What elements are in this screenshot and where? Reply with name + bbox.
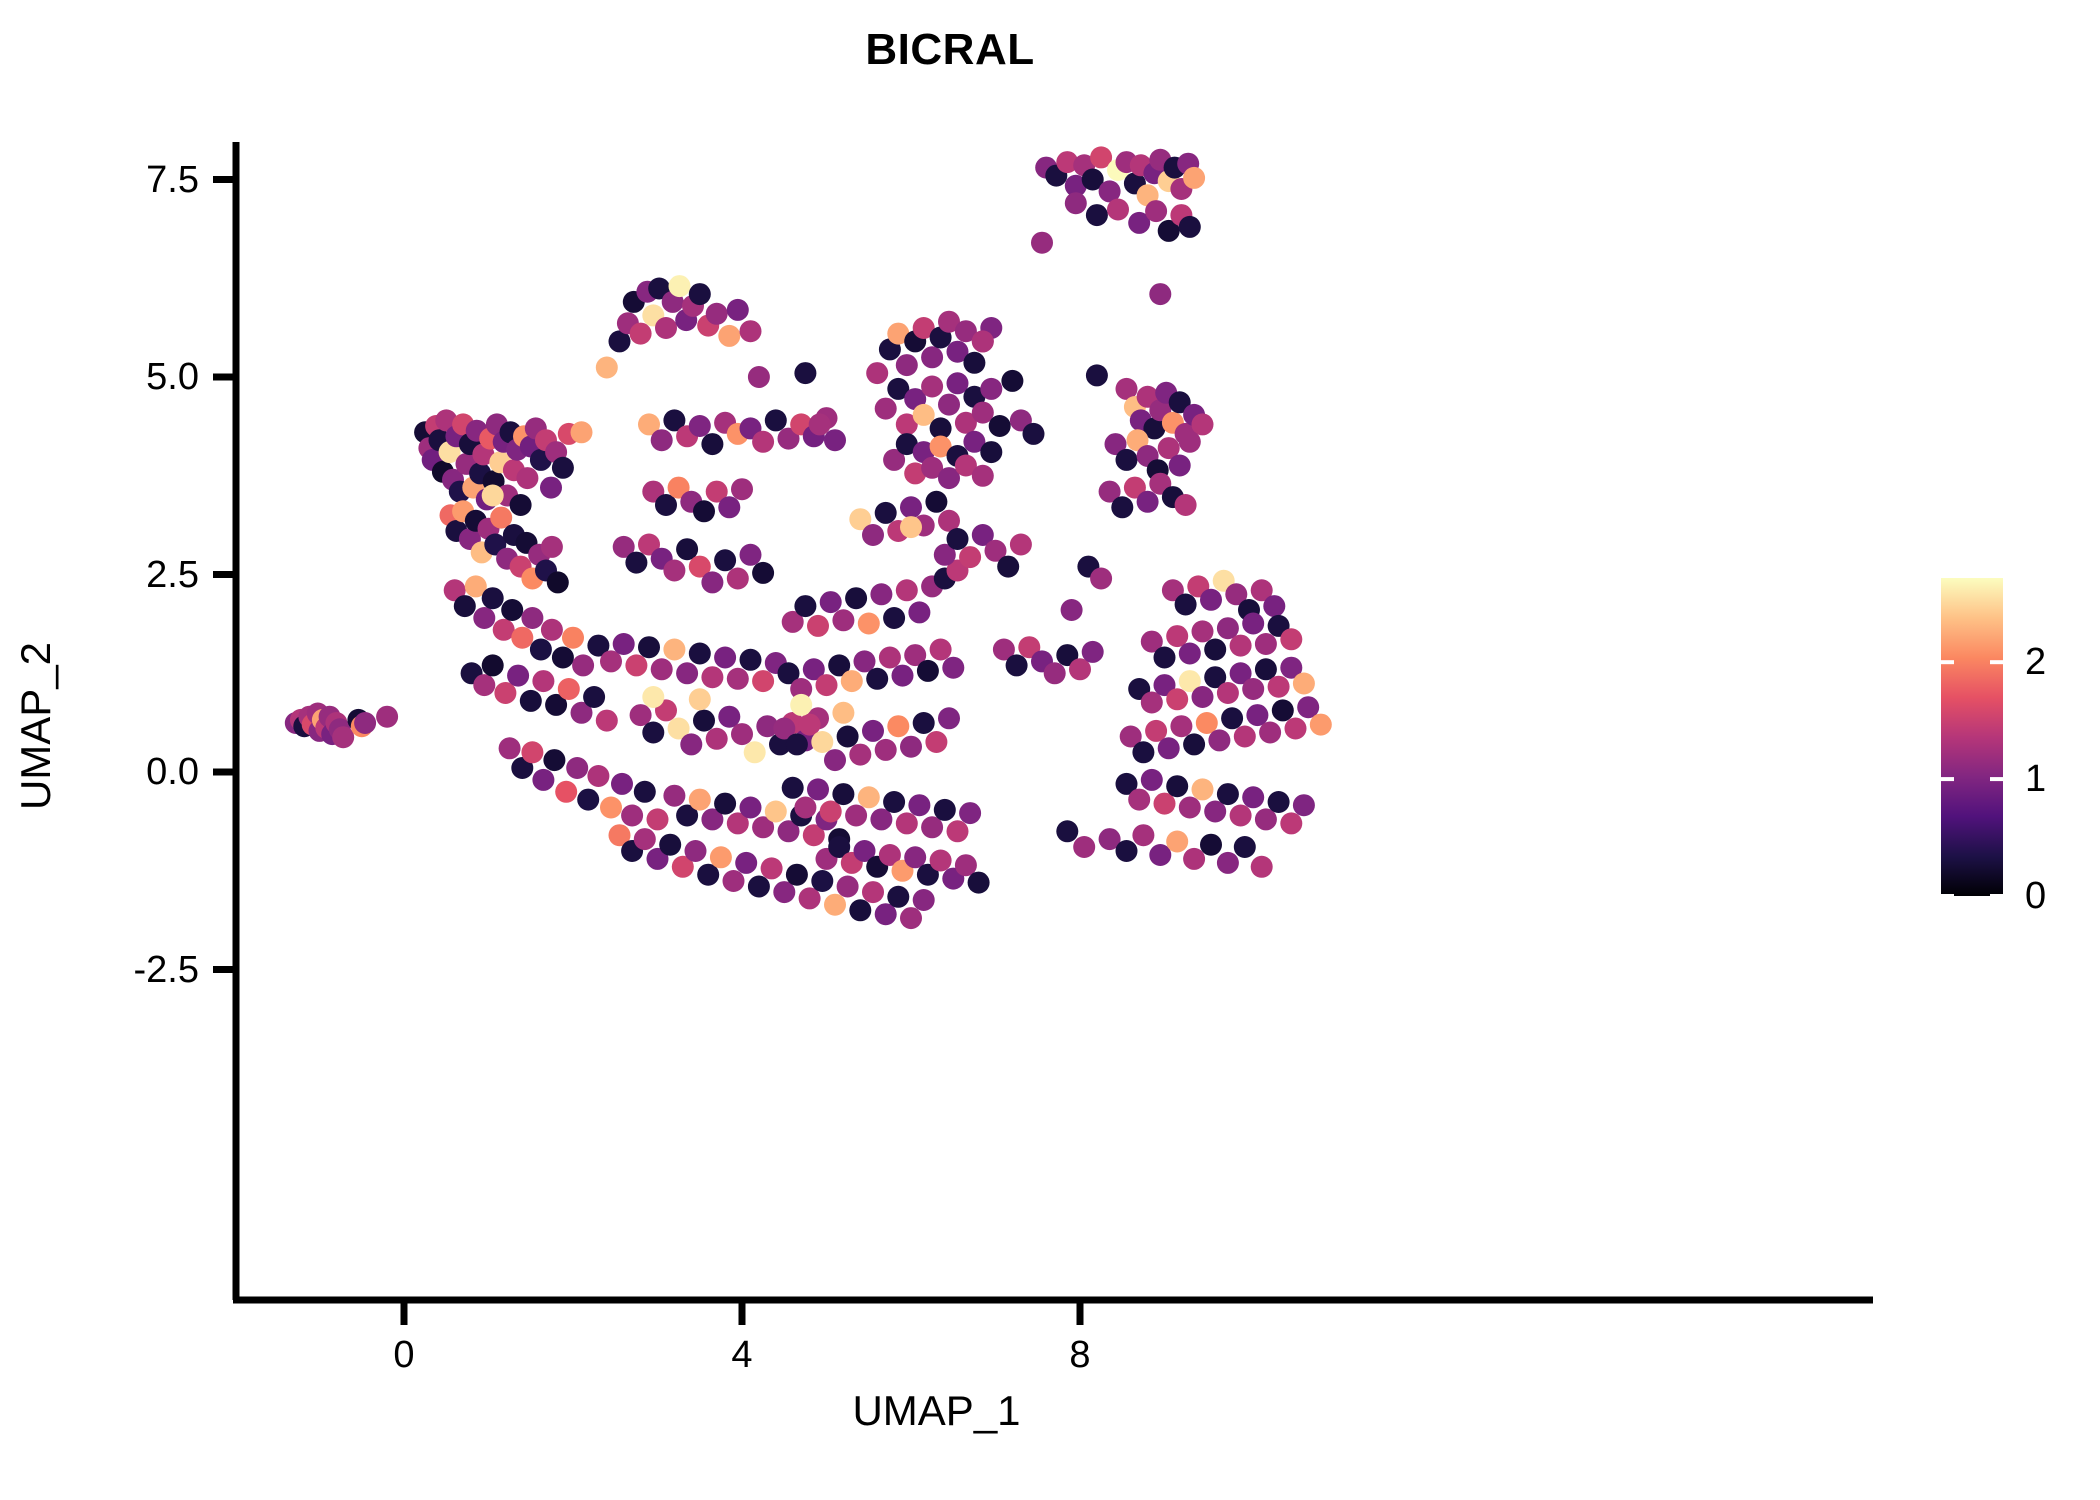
data-point bbox=[997, 556, 1019, 578]
data-point bbox=[824, 894, 846, 916]
data-point bbox=[562, 627, 584, 649]
data-point bbox=[611, 773, 633, 795]
data-point bbox=[811, 731, 833, 753]
data-point bbox=[765, 801, 787, 823]
data-point bbox=[532, 670, 554, 692]
data-point bbox=[516, 467, 538, 489]
data-point bbox=[896, 579, 918, 601]
data-point bbox=[714, 647, 736, 669]
data-point bbox=[718, 325, 740, 347]
data-point bbox=[845, 805, 867, 827]
data-point bbox=[900, 907, 922, 929]
data-point bbox=[824, 749, 846, 771]
data-point bbox=[521, 607, 543, 629]
data-point bbox=[501, 599, 523, 621]
data-point bbox=[921, 346, 943, 368]
data-point bbox=[723, 870, 745, 892]
data-point bbox=[621, 805, 643, 827]
data-point bbox=[647, 808, 669, 830]
data-point bbox=[858, 786, 880, 808]
data-point bbox=[740, 320, 762, 342]
data-point bbox=[663, 785, 685, 807]
data-point bbox=[566, 757, 588, 779]
data-point bbox=[989, 415, 1011, 437]
data-point bbox=[1166, 831, 1188, 853]
data-point bbox=[794, 797, 816, 819]
data-point bbox=[968, 872, 990, 894]
data-point bbox=[482, 587, 504, 609]
data-point bbox=[1310, 714, 1332, 736]
data-point bbox=[1251, 856, 1273, 878]
data-point bbox=[887, 715, 909, 737]
data-point bbox=[1280, 628, 1302, 650]
data-point bbox=[663, 639, 685, 661]
data-point bbox=[714, 549, 736, 571]
data-point bbox=[1145, 200, 1167, 222]
data-point bbox=[1263, 595, 1285, 617]
data-point bbox=[1221, 707, 1243, 729]
data-point bbox=[541, 619, 563, 641]
data-point bbox=[1217, 852, 1239, 874]
data-point bbox=[1056, 820, 1078, 842]
data-point bbox=[1230, 805, 1252, 827]
data-point bbox=[1272, 699, 1294, 721]
data-point bbox=[934, 799, 956, 821]
data-point bbox=[845, 587, 867, 609]
data-point bbox=[809, 413, 831, 435]
data-point bbox=[510, 494, 532, 516]
data-point bbox=[727, 299, 749, 321]
data-point bbox=[1179, 643, 1201, 665]
data-point bbox=[1158, 737, 1180, 759]
data-point bbox=[587, 765, 609, 787]
data-point bbox=[980, 378, 1002, 400]
data-point bbox=[1268, 791, 1290, 813]
data-point bbox=[1137, 491, 1159, 513]
data-point bbox=[908, 794, 930, 816]
data-point bbox=[761, 857, 783, 879]
data-point bbox=[1259, 722, 1281, 744]
data-point bbox=[883, 791, 905, 813]
data-point bbox=[752, 431, 774, 453]
data-point bbox=[913, 889, 935, 911]
data-point bbox=[748, 366, 770, 388]
data-point bbox=[786, 733, 808, 755]
data-point bbox=[1179, 431, 1201, 453]
data-point bbox=[577, 789, 599, 811]
data-point bbox=[731, 723, 753, 745]
data-point bbox=[980, 441, 1002, 463]
data-point bbox=[807, 615, 829, 637]
data-point bbox=[841, 670, 863, 692]
data-point bbox=[866, 668, 888, 690]
data-point bbox=[473, 674, 495, 696]
data-point bbox=[837, 726, 859, 748]
data-point bbox=[921, 376, 943, 398]
data-point bbox=[642, 722, 664, 744]
data-points-layer bbox=[285, 146, 1332, 929]
data-point bbox=[689, 789, 711, 811]
data-point bbox=[669, 275, 691, 297]
data-point bbox=[959, 802, 981, 824]
data-point bbox=[1192, 686, 1214, 708]
data-point bbox=[583, 686, 605, 708]
data-point bbox=[701, 666, 723, 688]
data-point bbox=[849, 899, 871, 921]
data-point bbox=[689, 283, 711, 305]
data-point bbox=[1230, 635, 1252, 657]
data-point bbox=[832, 783, 854, 805]
data-point bbox=[376, 706, 398, 728]
data-point bbox=[642, 686, 664, 708]
data-point bbox=[1200, 834, 1222, 856]
data-point bbox=[938, 394, 960, 416]
colorbar-tick-label: 1 bbox=[2025, 760, 2046, 798]
data-point bbox=[765, 409, 787, 431]
data-point bbox=[963, 352, 985, 374]
data-point bbox=[596, 710, 618, 732]
data-point bbox=[541, 536, 563, 558]
data-point bbox=[540, 477, 562, 499]
data-point bbox=[1082, 641, 1104, 663]
data-point bbox=[521, 741, 543, 763]
data-point bbox=[925, 731, 947, 753]
data-point bbox=[862, 524, 884, 546]
data-point bbox=[482, 485, 504, 507]
data-point bbox=[718, 496, 740, 518]
data-point bbox=[354, 712, 376, 734]
axis-lines bbox=[213, 142, 1873, 1325]
data-point bbox=[1170, 715, 1192, 737]
data-point bbox=[849, 744, 871, 766]
data-point bbox=[752, 670, 774, 692]
data-point bbox=[1086, 204, 1108, 226]
data-point bbox=[1179, 216, 1201, 238]
data-point bbox=[816, 674, 838, 696]
data-point bbox=[1169, 455, 1191, 477]
data-point bbox=[1010, 534, 1032, 556]
data-point bbox=[714, 793, 736, 815]
data-point bbox=[1111, 496, 1133, 518]
data-point bbox=[727, 668, 749, 690]
colorbar-tick-label: 2 bbox=[2025, 643, 2046, 681]
data-point bbox=[947, 820, 969, 842]
data-point bbox=[794, 595, 816, 617]
data-point bbox=[875, 398, 897, 420]
data-point bbox=[1293, 673, 1315, 695]
data-point bbox=[693, 500, 715, 522]
data-point bbox=[552, 457, 574, 479]
data-point bbox=[1208, 729, 1230, 751]
data-point bbox=[862, 881, 884, 903]
data-point bbox=[1234, 726, 1256, 748]
data-point bbox=[571, 421, 593, 443]
data-point bbox=[634, 828, 656, 850]
data-point bbox=[547, 571, 569, 593]
data-point bbox=[752, 562, 774, 584]
data-point bbox=[706, 303, 728, 325]
data-point bbox=[659, 834, 681, 856]
data-point bbox=[1293, 794, 1315, 816]
data-point bbox=[685, 840, 707, 862]
data-point bbox=[735, 852, 757, 874]
colorbar-gradient bbox=[1941, 578, 2003, 896]
data-point bbox=[1280, 812, 1302, 834]
data-point bbox=[543, 749, 565, 771]
data-point bbox=[552, 647, 574, 669]
data-point bbox=[1242, 786, 1264, 808]
data-point bbox=[1065, 192, 1087, 214]
data-point bbox=[782, 777, 804, 799]
data-point bbox=[710, 846, 732, 868]
data-point bbox=[938, 707, 960, 729]
data-point bbox=[689, 688, 711, 710]
data-point bbox=[638, 636, 660, 658]
data-point bbox=[701, 571, 723, 593]
data-point bbox=[930, 850, 952, 872]
data-point bbox=[790, 694, 812, 716]
data-point bbox=[837, 876, 859, 898]
data-point bbox=[740, 544, 762, 566]
data-point bbox=[596, 357, 618, 379]
data-point bbox=[689, 643, 711, 665]
data-point bbox=[1044, 662, 1066, 684]
data-point bbox=[1175, 494, 1197, 516]
data-point bbox=[740, 649, 762, 671]
data-point bbox=[1234, 836, 1256, 858]
data-point bbox=[883, 607, 905, 629]
data-point bbox=[1023, 423, 1045, 445]
data-point bbox=[680, 733, 702, 755]
data-point bbox=[947, 528, 969, 550]
data-point bbox=[896, 812, 918, 834]
data-point bbox=[1183, 167, 1205, 189]
data-point bbox=[972, 465, 994, 487]
data-point bbox=[1183, 733, 1205, 755]
data-point bbox=[807, 778, 829, 800]
data-point bbox=[875, 502, 897, 524]
data-point bbox=[959, 546, 981, 568]
data-point bbox=[482, 654, 504, 676]
data-point bbox=[1086, 364, 1108, 386]
data-point bbox=[1107, 199, 1129, 221]
data-point bbox=[917, 660, 939, 682]
data-point bbox=[1031, 232, 1053, 254]
data-point bbox=[530, 639, 552, 661]
data-point bbox=[634, 781, 656, 803]
data-point bbox=[625, 552, 647, 574]
data-point bbox=[862, 720, 884, 742]
data-point bbox=[972, 330, 994, 352]
data-point bbox=[651, 429, 673, 451]
data-point bbox=[1132, 741, 1154, 763]
data-point bbox=[832, 702, 854, 724]
data-point bbox=[655, 317, 677, 339]
data-point bbox=[332, 726, 354, 748]
data-point bbox=[1255, 633, 1277, 655]
data-point bbox=[1192, 778, 1214, 800]
data-point bbox=[879, 647, 901, 669]
data-point bbox=[744, 741, 766, 763]
data-point bbox=[1268, 676, 1290, 698]
data-point bbox=[887, 886, 909, 908]
data-point bbox=[1242, 678, 1264, 700]
data-point bbox=[1154, 647, 1176, 669]
data-point bbox=[811, 870, 833, 892]
data-point bbox=[651, 658, 673, 680]
data-point bbox=[942, 657, 964, 679]
data-point bbox=[454, 595, 476, 617]
data-point bbox=[866, 362, 888, 384]
data-point bbox=[900, 496, 922, 518]
colorbar-legend bbox=[1941, 578, 2003, 896]
data-point bbox=[630, 323, 652, 345]
data-point bbox=[676, 662, 698, 684]
data-point bbox=[820, 591, 842, 613]
data-point bbox=[532, 769, 554, 791]
data-point bbox=[1200, 589, 1222, 611]
data-point bbox=[900, 736, 922, 758]
data-point bbox=[1217, 682, 1239, 704]
data-point bbox=[824, 429, 846, 451]
data-point bbox=[1192, 620, 1214, 642]
colorbar-tick-label: 0 bbox=[2025, 877, 2046, 915]
data-point bbox=[858, 613, 880, 635]
data-point bbox=[663, 560, 685, 582]
data-point bbox=[794, 362, 816, 384]
data-point bbox=[727, 568, 749, 590]
data-point bbox=[1006, 654, 1028, 676]
data-point bbox=[870, 583, 892, 605]
data-point bbox=[896, 354, 918, 376]
data-point bbox=[1217, 783, 1239, 805]
data-point bbox=[1128, 789, 1150, 811]
data-point bbox=[1073, 836, 1095, 858]
data-point bbox=[1001, 370, 1023, 392]
data-point bbox=[1242, 613, 1264, 635]
data-point bbox=[832, 609, 854, 631]
data-point bbox=[499, 737, 521, 759]
data-point bbox=[558, 678, 580, 700]
data-point bbox=[1116, 840, 1138, 862]
data-point bbox=[1141, 769, 1163, 791]
data-point bbox=[625, 654, 647, 676]
data-point bbox=[1204, 639, 1226, 661]
data-point bbox=[701, 433, 723, 455]
data-point bbox=[1116, 449, 1138, 471]
data-point bbox=[1183, 848, 1205, 870]
data-point bbox=[473, 607, 495, 629]
data-point bbox=[555, 781, 577, 803]
data-point bbox=[693, 710, 715, 732]
data-point bbox=[1285, 718, 1307, 740]
data-point bbox=[908, 601, 930, 623]
data-point bbox=[507, 665, 529, 687]
data-point bbox=[1061, 599, 1083, 621]
data-point bbox=[930, 639, 952, 661]
data-point bbox=[1166, 688, 1188, 710]
data-point bbox=[740, 797, 762, 819]
data-point bbox=[613, 633, 635, 655]
data-point bbox=[1090, 568, 1112, 590]
data-point bbox=[786, 864, 808, 886]
data-point bbox=[925, 491, 947, 513]
data-point bbox=[731, 478, 753, 500]
data-point bbox=[892, 665, 914, 687]
data-point bbox=[900, 516, 922, 538]
data-point bbox=[1175, 594, 1197, 616]
chart-root: BICRAL UMAP_2 UMAP_1 -2.50.02.55.07.5 04… bbox=[0, 0, 2100, 1500]
data-point bbox=[520, 690, 542, 712]
data-point bbox=[875, 739, 897, 761]
data-point bbox=[748, 876, 770, 898]
data-point bbox=[1132, 824, 1154, 846]
data-point bbox=[1149, 283, 1171, 305]
data-point bbox=[913, 712, 935, 734]
data-point bbox=[689, 415, 711, 437]
data-point bbox=[1166, 775, 1188, 797]
data-point bbox=[600, 797, 622, 819]
scatter-panel bbox=[0, 0, 2100, 1500]
data-point bbox=[511, 627, 533, 649]
data-point bbox=[1179, 797, 1201, 819]
data-point bbox=[572, 654, 594, 676]
data-point bbox=[706, 728, 728, 750]
